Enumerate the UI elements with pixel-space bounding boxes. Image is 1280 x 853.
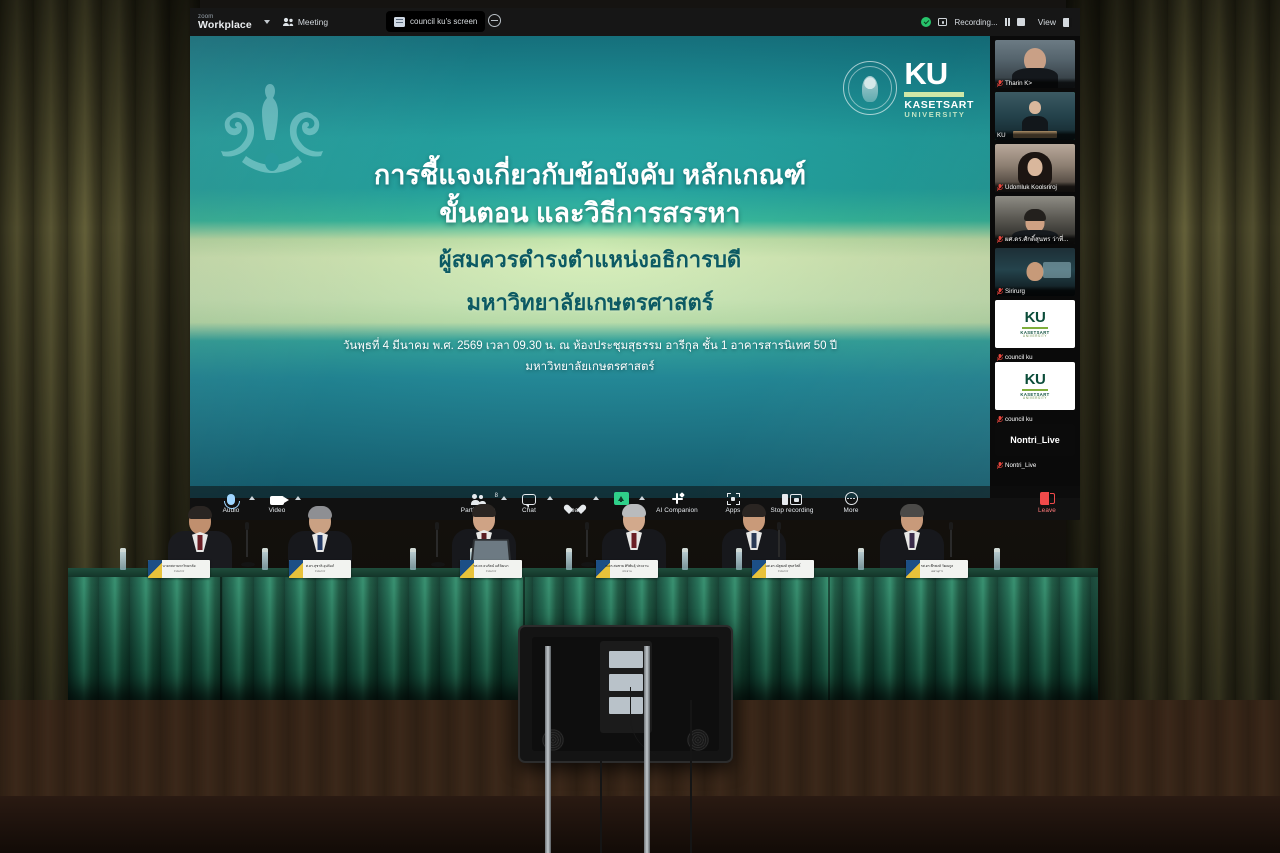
video-options-caret-icon[interactable]	[295, 496, 301, 500]
pause-recording-button[interactable]	[1005, 18, 1011, 26]
chat-icon	[522, 492, 536, 505]
participant-name-text: Tharin K>	[1005, 80, 1032, 87]
ku-name-line2: UNIVERSITY	[904, 111, 974, 119]
muted-mic-icon	[997, 354, 1003, 361]
participant-name-label: council ku	[995, 352, 1075, 362]
ku-avatar-sub: UNIVERSITY	[1023, 335, 1047, 338]
chevron-down-icon[interactable]	[264, 20, 270, 24]
muted-mic-icon	[997, 416, 1003, 423]
meeting-tab-label: Meeting	[298, 17, 328, 27]
participant-name-text: Nontri_Live	[1005, 462, 1036, 469]
leave-button-label: Leave	[1038, 507, 1056, 514]
participant-tile[interactable]: Sirirurg	[995, 248, 1075, 296]
nameplate-subtitle: ประธาน	[622, 570, 631, 574]
nameplate: รศ.ดร.ธนรัตน์ แต้วัฒนา กรรมการ	[460, 560, 522, 578]
muted-mic-icon	[997, 288, 1003, 295]
participant-name-text: Udomluk Koolsriroj	[1005, 184, 1057, 191]
ku-avatar-initials: KU	[1025, 310, 1046, 325]
participant-name-label: ผศ.ดร.ศักดิ์สุนทร ว่าที่...	[995, 234, 1075, 244]
participant-tile[interactable]: KU KASETSART UNIVERSITY	[995, 300, 1075, 348]
zoom-brand-main: Workplace	[198, 20, 252, 31]
screen-share-label: council ku's screen	[410, 17, 477, 26]
participant-card-text: Nontri_Live	[1010, 435, 1060, 445]
monitor-cable	[600, 760, 602, 853]
apps-icon	[727, 492, 740, 505]
encryption-shield-icon[interactable]	[921, 17, 931, 27]
slide-text-block: การชี้แจงเกี่ยวกับข้อบังคับ หลักเกณฑ์ ขั…	[190, 156, 990, 378]
zoom-top-bar-right: Recording... View	[921, 8, 1072, 36]
screenshot-root: zoom Workplace Meeting council ku's scre…	[0, 0, 1280, 853]
ku-avatar-bar	[1022, 389, 1048, 392]
react-button[interactable]: React	[552, 492, 598, 514]
zoom-meeting-window: zoom Workplace Meeting council ku's scre…	[190, 8, 1080, 520]
ku-avatar-initials: KU	[1025, 372, 1046, 387]
participant-name-label: Udomluk Koolsriroj	[995, 182, 1075, 192]
participants-count-badge: 8	[495, 493, 498, 499]
participant-tile[interactable]: ผศ.ดร.ศักดิ์สุนทร ว่าที่...	[995, 196, 1075, 244]
nameplate: รศ.ดร.พีรพงษ์ วัฒนกูล เลขานุการ	[906, 560, 968, 578]
screen-share-indicator[interactable]: council ku's screen	[386, 11, 485, 32]
muted-mic-icon	[997, 462, 1003, 469]
participant-name-label: Nontri_Live	[995, 460, 1075, 470]
meeting-tab[interactable]: Meeting	[282, 16, 328, 28]
nameplate-title: ศ.ดร.สมชาย ศิริพันธุ์ ประธาน	[605, 564, 648, 569]
ku-wordmark: KU KASETSART UNIVERSITY	[904, 58, 974, 118]
nameplate-subtitle: กรรมการ	[174, 570, 185, 574]
nameplate: นายกสภามหาวิทยาลัย กรรมการ	[148, 560, 210, 578]
nameplate-title: ศ.ดร.สุชาติ อุปถัมภ์	[306, 564, 334, 569]
participant-tile[interactable]: Nontri_Live	[995, 424, 1075, 456]
view-layout-icon[interactable]	[1063, 18, 1072, 27]
ku-avatar-logo: KU KASETSART UNIVERSITY	[1020, 310, 1049, 338]
leave-icon	[1040, 492, 1055, 505]
recording-icon	[938, 18, 947, 26]
slide-heading-line1: การชี้แจงเกี่ยวกับข้อบังคับ หลักเกณฑ์	[190, 156, 990, 194]
ku-avatar-bar	[1022, 327, 1048, 330]
muted-mic-icon	[997, 236, 1003, 243]
nameplate-subtitle: กรรมการ	[778, 570, 789, 574]
microphone-icon	[227, 492, 235, 505]
participant-name-text: council ku	[1005, 416, 1033, 423]
participant-tile[interactable]: KU	[995, 92, 1075, 140]
participant-name-text: ผศ.ดร.ศักดิ์สุนทร ว่าที่...	[1005, 234, 1068, 244]
participant-name-text: KU	[997, 132, 1006, 139]
slide-heading-line2: ขั้นตอน และวิธีการสรรหา	[190, 194, 990, 232]
shared-screen-content: KU KASETSART UNIVERSITY การชี้แจงเกี่ยวก…	[190, 36, 990, 498]
nameplate-title: ผศ.ดร.ณัฐพงษ์ สุขสวัสดิ์	[766, 564, 801, 569]
sparkle-icon	[670, 492, 684, 505]
nameplate-title: รศ.ดร.พีรพงษ์ วัฒนกูล	[921, 564, 953, 569]
slide-footer-line2: มหาวิทยาลัยเกษตรศาสตร์	[190, 358, 990, 378]
nameplate-title: นายกสภามหาวิทยาลัย	[163, 564, 196, 569]
more-button[interactable]: More	[828, 492, 874, 514]
nameplate-subtitle: กรรมการ	[486, 570, 497, 574]
participant-gallery-strip[interactable]: Tharin K> KU	[990, 36, 1080, 498]
participant-name-text: Sirirurg	[1005, 288, 1025, 295]
participant-name-label: council ku	[995, 414, 1075, 424]
zoom-brand: zoom Workplace	[198, 14, 252, 31]
ku-logo: KU KASETSART UNIVERSITY	[843, 58, 974, 118]
ku-logo-bar	[904, 92, 964, 97]
ku-initials: KU	[904, 58, 974, 89]
participant-name-label: Sirirurg	[995, 286, 1075, 296]
stage-floor	[0, 796, 1280, 853]
minimize-share-icon[interactable]	[488, 14, 501, 27]
nameplate-title: รศ.ดร.ธนรัตน์ แต้วัฒนา	[473, 564, 508, 569]
more-icon	[845, 492, 858, 505]
tripod-leg-left	[545, 646, 551, 853]
view-label: View	[1038, 17, 1056, 27]
nameplate: ศ.ดร.สมชาย ศิริพันธุ์ ประธาน ประธาน	[596, 560, 658, 578]
nameplate-subtitle: กรรมการ	[315, 570, 326, 574]
share-screen-icon	[614, 492, 629, 505]
ku-avatar-sub: UNIVERSITY	[1023, 397, 1047, 400]
monitor-cable	[690, 700, 692, 853]
slide-subheading-line1: ผู้สมควรดำรงตำแหน่งอธิการบดี	[190, 243, 990, 276]
slide-footer-line1: วันพุธที่ 4 มีนาคม พ.ศ. 2569 เวลา 09.30 …	[190, 337, 990, 357]
more-button-label: More	[844, 507, 859, 514]
ku-name-line1: KASETSART	[904, 100, 974, 111]
chat-button-label: Chat	[522, 507, 536, 514]
video-button-label: Video	[269, 507, 286, 514]
nameplate: ศ.ดร.สุชาติ อุปถัมภ์ กรรมการ	[289, 560, 351, 578]
participant-name-label: KU	[995, 130, 1075, 140]
zoom-top-bar: zoom Workplace Meeting council ku's scre…	[190, 8, 1080, 36]
slide-subheading-line2: มหาวิทยาลัยเกษตรศาสตร์	[190, 286, 990, 319]
participant-tile[interactable]: KU KASETSART UNIVERSITY	[995, 362, 1075, 410]
kasetsart-seal-icon	[843, 61, 897, 115]
participant-name-label: Tharin K>	[995, 78, 1075, 88]
recording-status-label: Recording...	[954, 18, 997, 27]
laptop	[471, 539, 512, 563]
shared-screen-icon	[394, 17, 405, 27]
participant-name-text: council ku	[1005, 354, 1033, 361]
muted-mic-icon	[997, 184, 1003, 191]
nameplate-subtitle: เลขานุการ	[931, 570, 943, 574]
stop-recording-icon	[782, 492, 802, 505]
stage-curtain-right	[1066, 0, 1280, 760]
nameplate: ผศ.ดร.ณัฐพงษ์ สุขสวัสดิ์ กรรมการ	[752, 560, 814, 578]
meeting-people-icon	[282, 16, 294, 28]
participant-tile[interactable]: Tharin K>	[995, 40, 1075, 88]
camera-icon	[270, 492, 284, 505]
ku-avatar-logo: KU KASETSART UNIVERSITY	[1020, 372, 1049, 400]
participant-tile[interactable]: Udomluk Koolsriroj	[995, 144, 1075, 192]
leave-button[interactable]: Leave	[1024, 492, 1070, 514]
stop-recording-button[interactable]	[1017, 18, 1025, 26]
muted-mic-icon	[997, 80, 1003, 87]
tripod-leg-right	[644, 646, 650, 853]
